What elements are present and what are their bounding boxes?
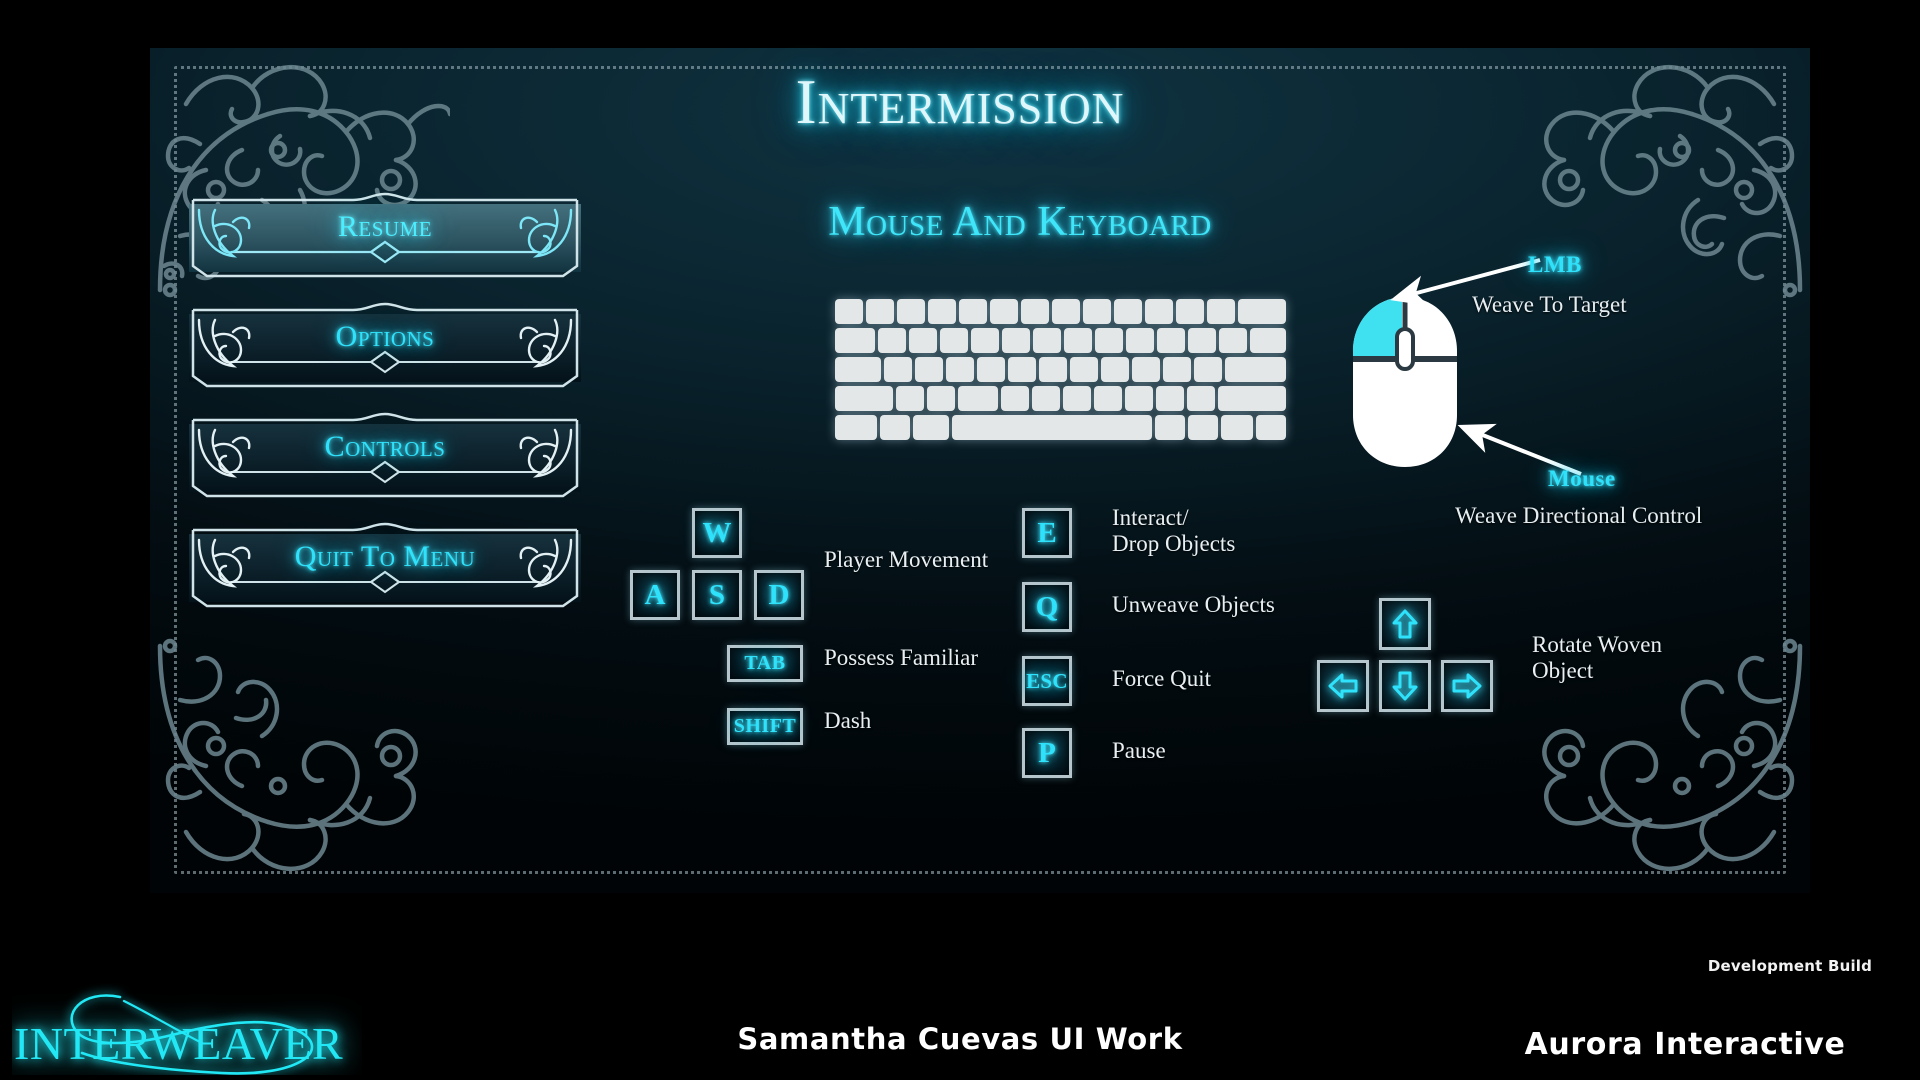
menu-button-resume[interactable]: Resume: [185, 192, 585, 279]
development-build-badge: Development Build: [1690, 957, 1890, 975]
menu-button-label: Resume: [185, 210, 585, 244]
menu-button-label: Quit To Menu: [185, 540, 585, 574]
menu-button-label: Options: [185, 320, 585, 354]
key-arrow-right: [1441, 660, 1493, 712]
key-q: Q: [1022, 582, 1072, 632]
page-title: Intermission: [0, 66, 1920, 139]
mouse-illustration-icon: [1345, 295, 1465, 470]
menu-button-quit-to-menu[interactable]: Quit To Menu: [185, 522, 585, 609]
key-esc: ESC: [1022, 656, 1072, 706]
interweaver-logo: INTERWEAVER: [12, 975, 362, 1075]
pause-menu: Resume: [185, 192, 585, 632]
key-d: D: [754, 570, 804, 620]
callout-mouse-desc: Weave Directional Control: [1455, 503, 1702, 529]
key-w: W: [692, 508, 742, 558]
callout-mouse-key: Mouse: [1548, 466, 1616, 492]
desc-line-2: Drop Objects: [1112, 531, 1235, 557]
key-arrow-up: [1379, 598, 1431, 650]
desc-interact-drop: Interact/ Drop Objects: [1112, 505, 1235, 557]
desc-dash: Dash: [824, 708, 871, 734]
callout-lmb-desc: Weave To Target: [1472, 292, 1627, 318]
key-a: A: [630, 570, 680, 620]
desc-line-2: Object: [1532, 658, 1662, 684]
section-subtitle: Mouse And Keyboard: [760, 198, 1280, 246]
key-arrow-left: [1317, 660, 1369, 712]
menu-button-label: Controls: [185, 430, 585, 464]
callout-lmb-key: LMB: [1528, 252, 1582, 278]
key-tab: TAB: [727, 645, 803, 682]
menu-button-options[interactable]: Options: [185, 302, 585, 389]
studio-name: Aurora Interactive: [1450, 1027, 1920, 1062]
key-s: S: [692, 570, 742, 620]
key-shift: SHIFT: [727, 708, 803, 745]
desc-possess-familiar: Possess Familiar: [824, 645, 978, 671]
desc-line-1: Interact/: [1112, 505, 1235, 531]
keyboard-illustration-icon: [833, 296, 1288, 451]
desc-force-quit: Force Quit: [1112, 666, 1211, 692]
desc-unweave-objects: Unweave Objects: [1112, 592, 1275, 618]
credit-text: Samantha Cuevas UI Work: [660, 1022, 1260, 1056]
key-e: E: [1022, 508, 1072, 558]
menu-button-controls[interactable]: Controls: [185, 412, 585, 499]
key-p: P: [1022, 728, 1072, 778]
desc-rotate-woven-object: Rotate Woven Object: [1532, 632, 1662, 684]
key-arrow-down: [1379, 660, 1431, 712]
desc-pause: Pause: [1112, 738, 1166, 764]
logo-wordmark: INTERWEAVER: [14, 1018, 343, 1069]
desc-line-1: Rotate Woven: [1532, 632, 1662, 658]
desc-player-movement: Player Movement: [824, 547, 988, 573]
game-pause-screen: Intermission Mouse And Keyboard: [0, 0, 1920, 1080]
